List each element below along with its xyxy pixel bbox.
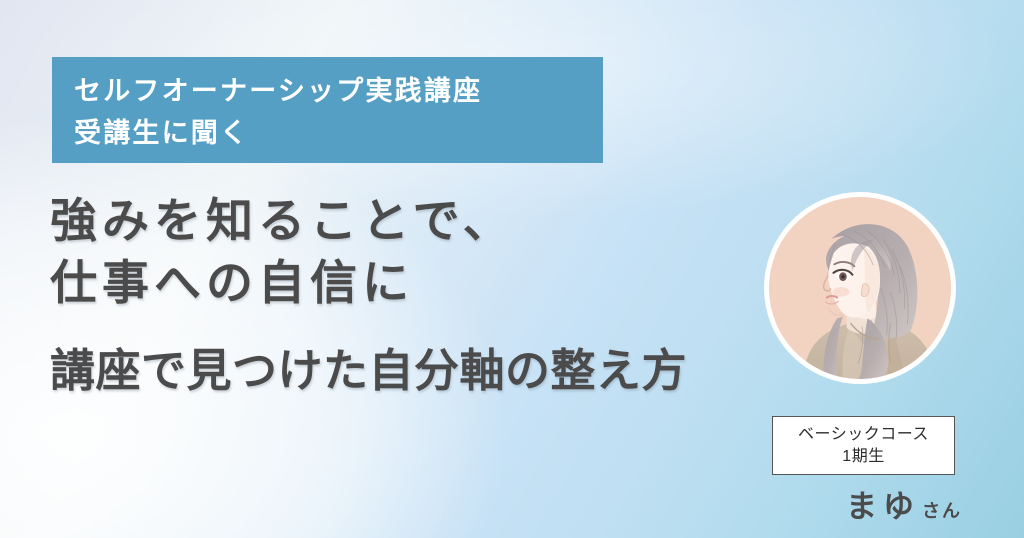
headline-subtitle: 講座で見つけた自分軸の整え方 <box>50 341 687 401</box>
course-banner: セルフオーナーシップ実践講座 受講生に聞く <box>52 57 603 163</box>
interview-banner-canvas: INTERVIEW セルフオーナーシップ実践講座 受講生に聞く 強みを知ることで… <box>0 0 1024 538</box>
woman-profile-illustration <box>769 197 951 379</box>
course-label-line-1: ベーシックコース <box>798 424 929 445</box>
profile-name-suffix: さん <box>922 501 962 521</box>
headline-block: 強みを知ることで、 仕事への自信に <box>50 190 750 314</box>
profile-name-row: まゆさん <box>772 481 962 526</box>
headline-line-1: 強みを知ることで、 <box>50 190 750 252</box>
banner-line-1: セルフオーナーシップ実践講座 <box>74 70 581 112</box>
course-label-box: ベーシックコース 1期生 <box>772 416 955 475</box>
background-highlight-left <box>0 120 500 538</box>
headline-line-2: 仕事への自信に <box>50 252 750 314</box>
profile-name: まゆ <box>846 489 920 524</box>
course-label-line-2: 1期生 <box>842 446 884 467</box>
banner-line-2: 受講生に聞く <box>74 112 581 154</box>
profile-portrait-avatar <box>764 192 956 384</box>
